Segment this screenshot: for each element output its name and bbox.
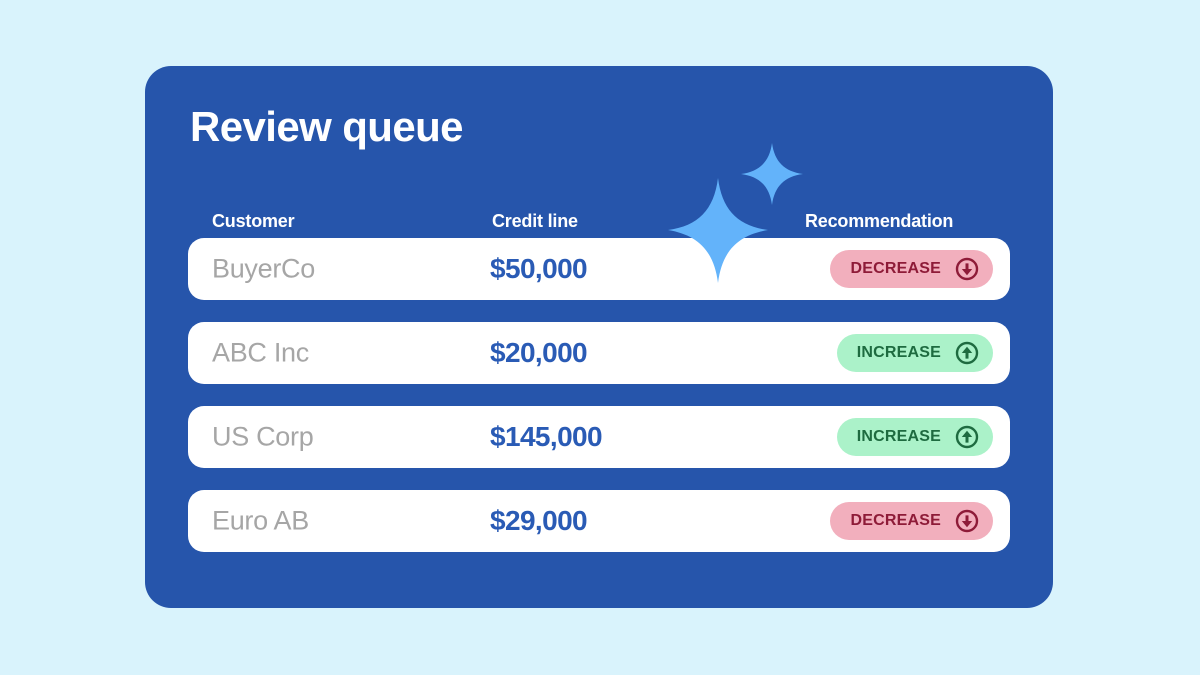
arrow-up-circle-icon xyxy=(955,425,979,449)
recommendation-label: INCREASE xyxy=(857,429,941,445)
arrow-up-circle-icon xyxy=(955,341,979,365)
table-row[interactable]: BuyerCo$50,000DECREASE xyxy=(188,238,1010,300)
page-title: Review queue xyxy=(190,106,463,148)
credit-line-amount: $20,000 xyxy=(490,337,587,369)
screenshot-root: Review queue Customer Credit line Recomm… xyxy=(0,0,1200,675)
credit-line-amount: $50,000 xyxy=(490,253,587,285)
arrow-down-circle-icon xyxy=(955,509,979,533)
recommendation-badge[interactable]: DECREASE xyxy=(830,502,993,540)
customer-name: US Corp xyxy=(212,422,313,453)
column-header-customer: Customer xyxy=(212,211,294,232)
recommendation-label: DECREASE xyxy=(850,513,941,529)
review-queue-card: Review queue Customer Credit line Recomm… xyxy=(145,66,1053,608)
table-header-row: Customer Credit line Recommendation xyxy=(145,211,1053,237)
table-row[interactable]: US Corp$145,000INCREASE xyxy=(188,406,1010,468)
column-header-credit-line: Credit line xyxy=(492,211,578,232)
arrow-down-circle-icon xyxy=(955,257,979,281)
recommendation-badge[interactable]: INCREASE xyxy=(837,334,993,372)
review-queue-table: BuyerCo$50,000DECREASEABC Inc$20,000INCR… xyxy=(188,238,1010,552)
customer-name: ABC Inc xyxy=(212,338,309,369)
recommendation-label: INCREASE xyxy=(857,345,941,361)
recommendation-label: DECREASE xyxy=(850,261,941,277)
table-row[interactable]: Euro AB$29,000DECREASE xyxy=(188,490,1010,552)
customer-name: Euro AB xyxy=(212,506,309,537)
table-row[interactable]: ABC Inc$20,000INCREASE xyxy=(188,322,1010,384)
credit-line-amount: $145,000 xyxy=(490,421,602,453)
customer-name: BuyerCo xyxy=(212,254,315,285)
recommendation-badge[interactable]: INCREASE xyxy=(837,418,993,456)
column-header-recommendation: Recommendation xyxy=(805,211,953,232)
credit-line-amount: $29,000 xyxy=(490,505,587,537)
recommendation-badge[interactable]: DECREASE xyxy=(830,250,993,288)
